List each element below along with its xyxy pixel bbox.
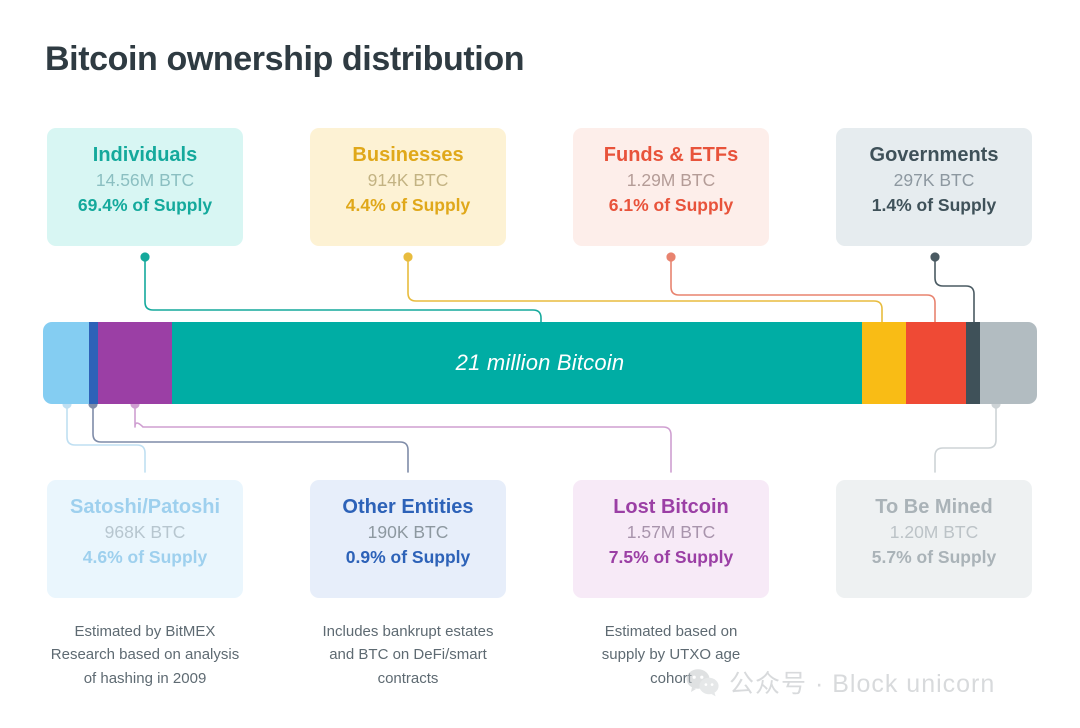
card-btc-amount: 1.57M BTC bbox=[573, 520, 769, 545]
card-percent-share: 4.6% of Supply bbox=[47, 545, 243, 570]
bar-segment-to-be-mined[interactable] bbox=[980, 322, 1037, 404]
bar-segment-individuals[interactable] bbox=[172, 322, 862, 404]
footnote-line: Estimated by BitMEX bbox=[30, 620, 260, 643]
card-percent-share: 7.5% of Supply bbox=[573, 545, 769, 570]
footnote-line: Includes bankrupt estates bbox=[293, 620, 523, 643]
card-category-label: Individuals bbox=[47, 142, 243, 168]
card-category-label: To Be Mined bbox=[836, 494, 1032, 520]
footnote-other-entities: Includes bankrupt estates and BTC on DeF… bbox=[293, 620, 523, 690]
card-percent-share: 5.7% of Supply bbox=[836, 545, 1032, 570]
bar-segment-governments[interactable] bbox=[966, 322, 980, 404]
satoshi-connector bbox=[67, 404, 145, 472]
card-to-be-mined[interactable]: To Be Mined 1.20M BTC 5.7% of Supply bbox=[836, 480, 1032, 598]
card-percent-share: 6.1% of Supply bbox=[573, 193, 769, 218]
to-be-mined-connector bbox=[935, 404, 996, 472]
footnote-satoshi: Estimated by BitMEX Research based on an… bbox=[30, 620, 260, 690]
card-lost-bitcoin[interactable]: Lost Bitcoin 1.57M BTC 7.5% of Supply bbox=[573, 480, 769, 598]
footnote-line: Estimated based on bbox=[556, 620, 786, 643]
footnote-line: and BTC on DeFi/smart bbox=[293, 643, 523, 666]
funds-etfs-connector-dot bbox=[666, 252, 675, 261]
card-btc-amount: 190K BTC bbox=[310, 520, 506, 545]
card-btc-amount: 14.56M BTC bbox=[47, 168, 243, 193]
card-percent-share: 69.4% of Supply bbox=[47, 193, 243, 218]
card-other-entities[interactable]: Other Entities 190K BTC 0.9% of Supply bbox=[310, 480, 506, 598]
footnote-line: contracts bbox=[293, 667, 523, 690]
card-category-label: Other Entities bbox=[310, 494, 506, 520]
governments-connector-dot bbox=[930, 252, 939, 261]
businesses-connector bbox=[408, 257, 882, 324]
card-btc-amount: 1.20M BTC bbox=[836, 520, 1032, 545]
card-category-label: Businesses bbox=[310, 142, 506, 168]
other-entities-connector bbox=[93, 404, 408, 472]
bar-segment-funds-etfs[interactable] bbox=[906, 322, 967, 404]
bar-segment-satoshi-patoshi[interactable] bbox=[43, 322, 89, 404]
bar-segment-other-entities[interactable] bbox=[89, 322, 98, 404]
card-btc-amount: 1.29M BTC bbox=[573, 168, 769, 193]
footnote-line: Research based on analysis bbox=[30, 643, 260, 666]
individuals-connector bbox=[145, 257, 541, 324]
footnote-line: supply by UTXO age bbox=[556, 643, 786, 666]
card-percent-share: 4.4% of Supply bbox=[310, 193, 506, 218]
lost-bitcoin-connector bbox=[135, 404, 671, 472]
infographic-canvas: Bitcoin ownership distribution Individua… bbox=[0, 0, 1080, 728]
page-title: Bitcoin ownership distribution bbox=[45, 40, 524, 79]
card-businesses[interactable]: Businesses 914K BTC 4.4% of Supply bbox=[310, 128, 506, 246]
card-governments[interactable]: Governments 297K BTC 1.4% of Supply bbox=[836, 128, 1032, 246]
governments-connector bbox=[935, 257, 974, 324]
card-percent-share: 1.4% of Supply bbox=[836, 193, 1032, 218]
watermark: 公众号 · Block unicorn bbox=[686, 664, 995, 700]
watermark-text: 公众号 · Block unicorn bbox=[729, 664, 995, 700]
card-btc-amount: 297K BTC bbox=[836, 168, 1032, 193]
card-individuals[interactable]: Individuals 14.56M BTC 69.4% of Supply bbox=[47, 128, 243, 246]
card-btc-amount: 914K BTC bbox=[310, 168, 506, 193]
card-satoshi-patoshi[interactable]: Satoshi/Patoshi 968K BTC 4.6% of Supply bbox=[47, 480, 243, 598]
card-category-label: Funds & ETFs bbox=[573, 142, 769, 168]
card-btc-amount: 968K BTC bbox=[47, 520, 243, 545]
card-percent-share: 0.9% of Supply bbox=[310, 545, 506, 570]
individuals-connector-dot bbox=[140, 252, 149, 261]
funds-etfs-connector bbox=[671, 257, 935, 324]
card-funds-etfs[interactable]: Funds & ETFs 1.29M BTC 6.1% of Supply bbox=[573, 128, 769, 246]
wechat-icon bbox=[686, 668, 720, 697]
supply-distribution-bar[interactable] bbox=[43, 322, 1037, 404]
card-category-label: Satoshi/Patoshi bbox=[47, 494, 243, 520]
card-category-label: Lost Bitcoin bbox=[573, 494, 769, 520]
businesses-connector-dot bbox=[403, 252, 412, 261]
card-category-label: Governments bbox=[836, 142, 1032, 168]
bar-segment-businesses[interactable] bbox=[862, 322, 906, 404]
bar-segment-lost-bitcoin[interactable] bbox=[98, 322, 173, 404]
footnote-line: of hashing in 2009 bbox=[30, 667, 260, 690]
